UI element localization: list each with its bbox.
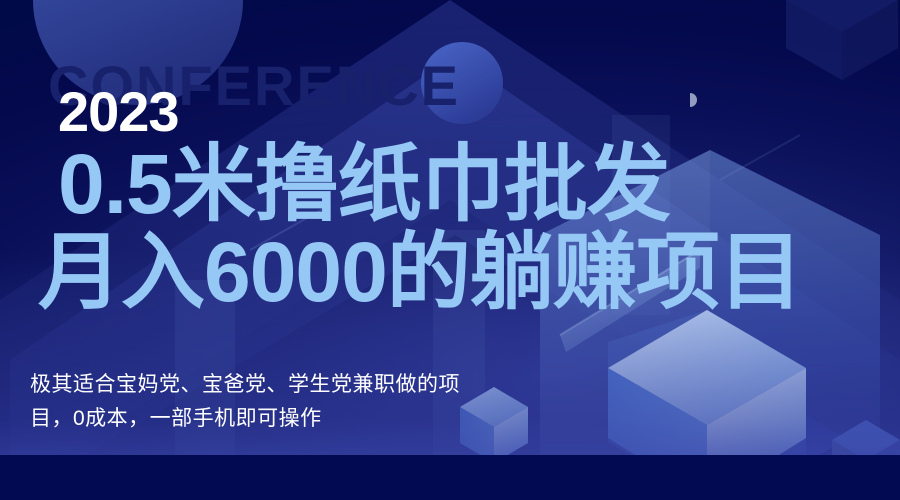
headline: 0.5米撸纸巾批发 月入6000的躺赚项目 <box>38 140 900 316</box>
bottom-dark-strip <box>0 455 900 500</box>
headline-line-1: 0.5米撸纸巾批发 <box>58 140 900 228</box>
year-label: 2023 <box>58 84 179 140</box>
poster-canvas: CONFERENCE 2023 0.5米撸纸巾批发 月入6000的躺赚项目 极其… <box>0 0 900 500</box>
headline-line-2: 月入6000的躺赚项目 <box>38 228 900 316</box>
subtitle-text: 极其适合宝妈党、宝爸党、学生党兼职做的项目，0成本，一部手机即可操作 <box>30 368 485 436</box>
